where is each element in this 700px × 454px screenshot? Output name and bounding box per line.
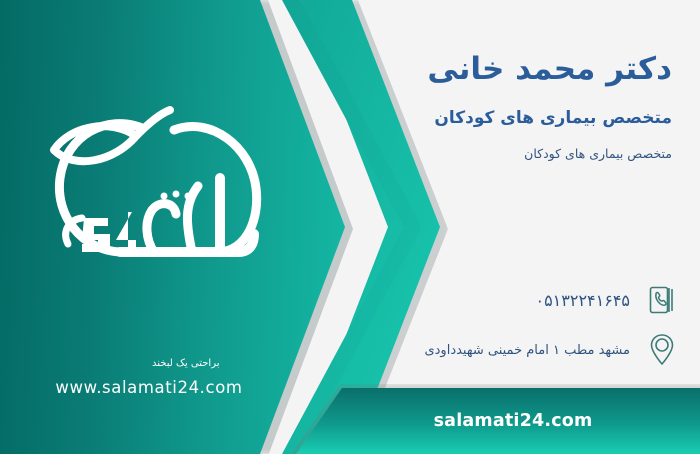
contact-block: ۰۵۱۳۲۲۴۱۶۴۵ مشهد مطب ١ امام خمینی شهیددا…	[258, 282, 678, 382]
location-pin-icon	[646, 332, 678, 368]
specialty-primary: متخصص بیماری های کودکان	[252, 108, 672, 128]
contact-row-phone: ۰۵۱۳۲۲۴۱۶۴۵	[258, 282, 678, 318]
clinic-address: مشهد مطب ١ امام خمینی شهیدداودی	[258, 343, 632, 358]
doctor-name: دکتر محمد خانی	[252, 50, 672, 89]
phonebook-icon	[646, 282, 678, 318]
footer-website[interactable]: salamati24.com	[296, 388, 700, 454]
logo-tagline: براحتی یک لبخند	[152, 358, 220, 369]
brand-logo: براحتی یک لبخند www.salamati24.com	[24, 100, 274, 305]
specialty-secondary: متخصص بیماری های کودکان	[252, 146, 672, 161]
logo-website: www.salamati24.com	[24, 378, 274, 397]
phone-number[interactable]: ۰۵۱۳۲۲۴۱۶۴۵	[258, 291, 632, 310]
apple-logo-icon	[24, 100, 274, 275]
contact-row-address: مشهد مطب ١ امام خمینی شهیدداودی	[258, 332, 678, 368]
business-card: براحتی یک لبخند www.salamati24.com دکتر …	[0, 0, 700, 454]
